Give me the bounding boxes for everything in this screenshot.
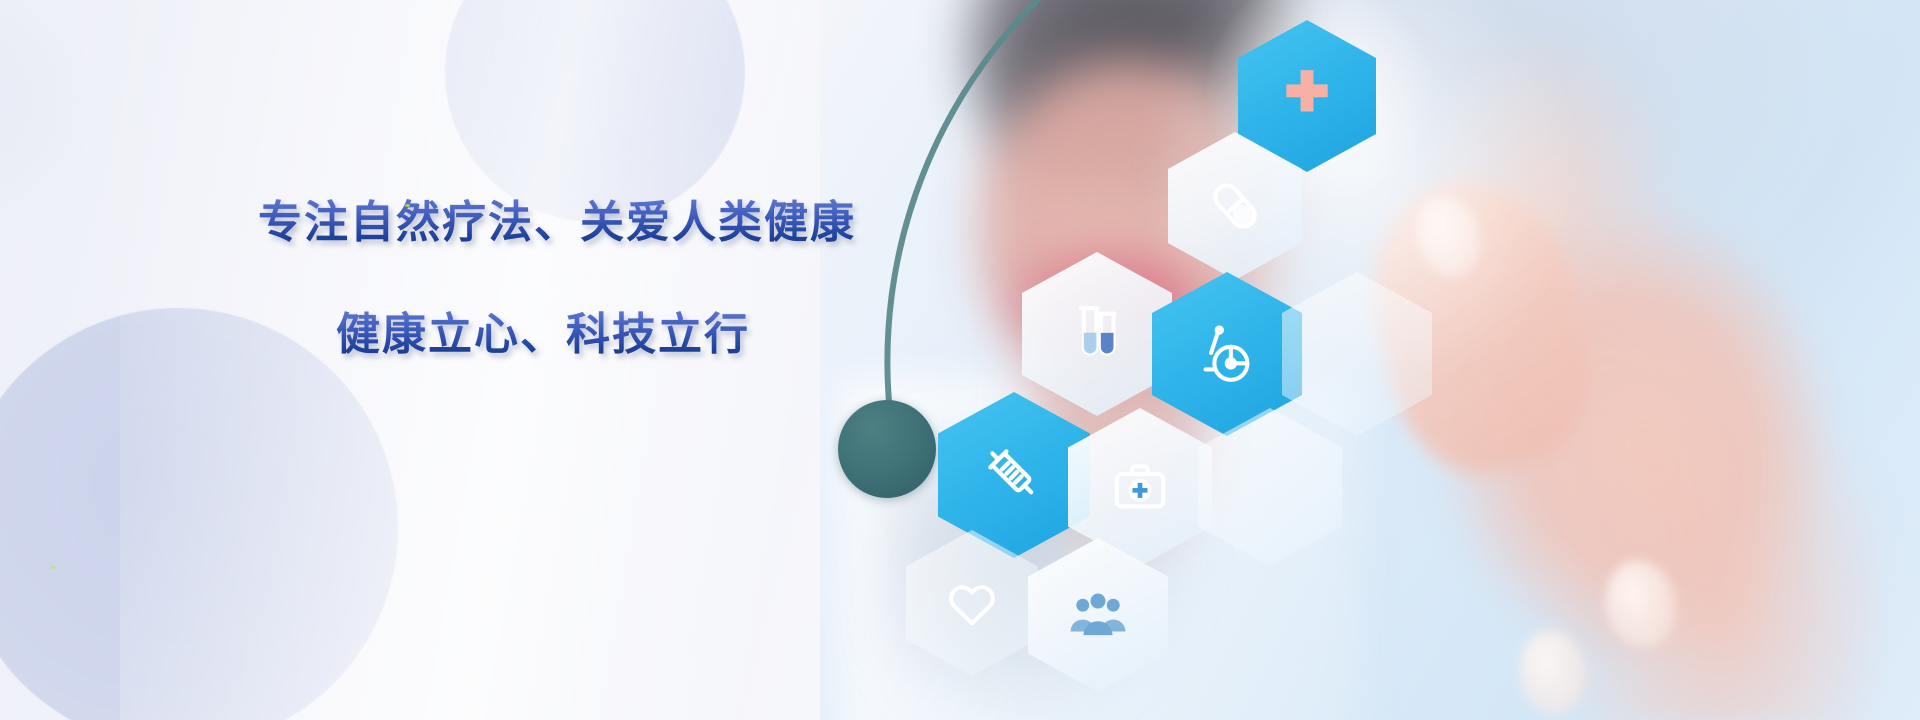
heart-icon	[943, 574, 1001, 632]
headline-block: 专注自然疗法、关爱人类健康 健康立心、科技立行	[0, 0, 900, 720]
hex-tile-first-aid-kit[interactable]	[1068, 408, 1212, 566]
wheelchair-icon	[1194, 321, 1260, 387]
hex-tile-test-tubes[interactable]	[1022, 252, 1172, 416]
health-banner: 专注自然疗法、关爱人类健康 健康立心、科技立行	[0, 0, 1920, 720]
hex-tile-wheelchair[interactable]	[1152, 272, 1302, 436]
people-group-icon	[1067, 584, 1129, 646]
headline-secondary: 健康立心、科技立行	[336, 298, 750, 362]
hex-tile-syringe[interactable]	[938, 392, 1090, 558]
dust-speck	[50, 566, 56, 569]
test-tubes-icon	[1064, 301, 1130, 367]
headline-primary: 专注自然疗法、关爱人类健康	[258, 186, 856, 250]
hex-tile-decorative	[1282, 272, 1432, 436]
medical-cross-icon	[1276, 65, 1338, 127]
dust-speck	[405, 204, 410, 207]
syringe-icon	[980, 441, 1048, 509]
first-aid-kit-icon	[1109, 456, 1171, 518]
medical-hexagon-cluster	[900, 10, 1520, 720]
capsule-pill-icon	[1205, 176, 1265, 236]
